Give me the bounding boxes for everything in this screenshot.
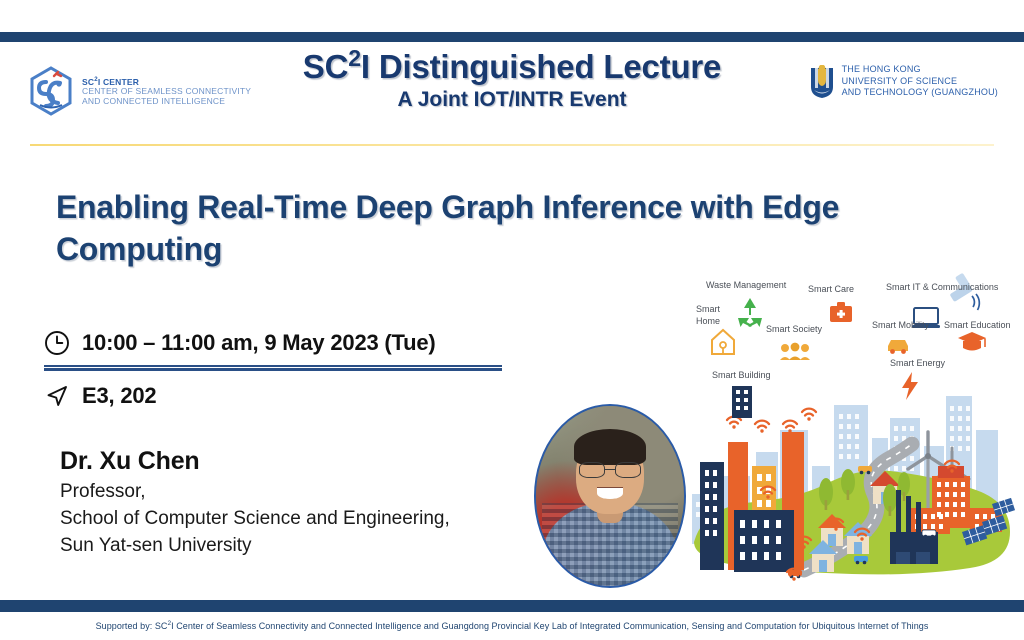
- time-row: 10:00 – 11:00 am, 9 May 2023 (Tue): [44, 330, 514, 356]
- hkust-shield-icon: [809, 65, 835, 99]
- lecture-poster: SC2I CENTER CENTER OF SEAMLESS CONNECTIV…: [0, 0, 1024, 640]
- hkust-logo-line3: AND TECHNOLOGY (GUANGZHOU): [842, 87, 998, 99]
- label-smart-home-line2: Home: [696, 316, 720, 326]
- label-smart-home-line1: Smart: [696, 304, 721, 314]
- speaker-name: Dr. Xu Chen: [60, 446, 520, 477]
- speaker-affiliation-line2: School of Computer Science and Engineeri…: [60, 506, 520, 533]
- building-icon: [732, 386, 752, 418]
- label-smart-it: Smart IT & Communications: [886, 282, 999, 292]
- smart-city-svg: Smart Home Waste Management Smart Care S…: [676, 270, 1016, 590]
- label-smart-care: Smart Care: [808, 284, 854, 294]
- event-venue: E3, 202: [82, 383, 156, 409]
- first-aid-kit-icon: [830, 302, 852, 322]
- speaker-portrait: [534, 404, 686, 588]
- event-time: 10:00 – 11:00 am, 9 May 2023 (Tue): [82, 330, 436, 356]
- graduation-cap-icon: [958, 332, 986, 351]
- label-smart-society: Smart Society: [766, 324, 823, 334]
- hkust-gz-logo: THE HONG KONG UNIVERSITY OF SCIENCE AND …: [809, 64, 998, 99]
- sc2i-logo-line1: CENTER OF SEAMLESS CONNECTIVITY: [82, 86, 251, 96]
- label-smart-energy: Smart Energy: [890, 358, 946, 368]
- hkust-logo-line2: UNIVERSITY OF SCIENCE: [842, 76, 998, 88]
- navigation-arrow-icon: [44, 383, 70, 409]
- sc2i-logo-line2: AND CONNECTED INTELLIGENCE: [82, 96, 251, 106]
- clock-icon: [44, 330, 70, 356]
- sc2i-logo-name: SC2I CENTER: [82, 76, 251, 87]
- foreground-towers: [700, 432, 804, 572]
- speaker-affiliation-line3: Sun Yat-sen University: [60, 533, 520, 560]
- smart-home-icon: [712, 330, 734, 354]
- recycle-icon: [738, 298, 762, 327]
- top-navy-bar: [0, 32, 1024, 42]
- people-icon: [780, 343, 810, 360]
- portrait-smile: [597, 487, 624, 499]
- gold-divider: [30, 144, 994, 146]
- portrait-glasses: [579, 462, 641, 478]
- bottom-navy-bar: [0, 600, 1024, 612]
- talk-title: Enabling Real-Time Deep Graph Inference …: [56, 186, 876, 270]
- footer-text: Supported by: SC2I Center of Seamless Co…: [0, 620, 1024, 631]
- poster-header: SC2I CENTER CENTER OF SEAMLESS CONNECTIV…: [0, 46, 1024, 142]
- speaker-block: Dr. Xu Chen Professor, School of Compute…: [60, 446, 520, 560]
- event-details: 10:00 – 11:00 am, 9 May 2023 (Tue) E3, 2…: [44, 330, 514, 409]
- hkust-logo-line1: THE HONG KONG: [842, 64, 998, 76]
- label-waste-management: Waste Management: [706, 280, 787, 290]
- energy-bolt-icon: [902, 372, 918, 400]
- speaker-affiliation-line1: Professor,: [60, 479, 520, 506]
- label-smart-building: Smart Building: [712, 370, 771, 380]
- venue-row: E3, 202: [44, 383, 514, 409]
- sc2i-center-logo: SC2I CENTER CENTER OF SEAMLESS CONNECTIV…: [28, 66, 251, 116]
- sc2i-hexagon-icon: [28, 66, 74, 116]
- label-smart-education: Smart Education: [944, 320, 1011, 330]
- smart-city-illustration: Smart Home Waste Management Smart Care S…: [676, 270, 1016, 590]
- label-smart-mobility: Smart Mobility: [872, 320, 930, 330]
- car-icon: [888, 340, 908, 354]
- portrait-hair: [574, 429, 647, 465]
- details-divider: [44, 365, 502, 371]
